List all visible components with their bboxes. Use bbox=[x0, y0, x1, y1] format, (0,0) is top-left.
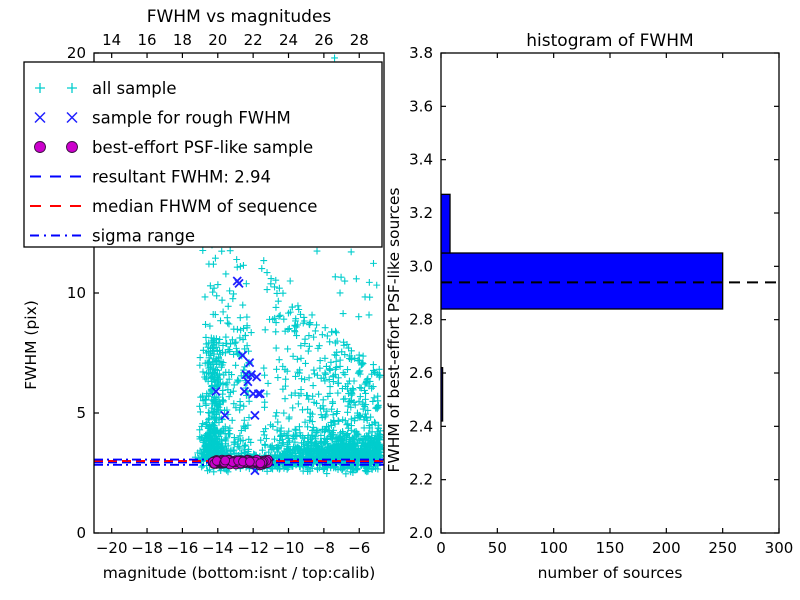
right-x-tick-label: 150 bbox=[596, 539, 625, 557]
left-x-tick-label: −18 bbox=[131, 539, 163, 557]
left-top-tick-label: 14 bbox=[102, 31, 121, 49]
right-x-tick-label: 0 bbox=[436, 539, 446, 557]
right-x-tick-label: 250 bbox=[708, 539, 737, 557]
legend-label: resultant FWHM: 2.94 bbox=[92, 168, 271, 187]
left-y-axis-label: FWHM (pix) bbox=[22, 300, 40, 390]
right-y-tick-label: 2.2 bbox=[409, 471, 433, 489]
right-y-tick-label: 3.4 bbox=[409, 151, 433, 169]
left-x-tick-label: −16 bbox=[167, 539, 199, 557]
right-y-tick-label: 3.2 bbox=[409, 204, 433, 222]
right-x-tick-label: 300 bbox=[765, 539, 794, 557]
matplotlib-figure: FWHM vs magnitudes 1416182022242628 −20−… bbox=[0, 0, 800, 600]
right-x-tick-label: 200 bbox=[652, 539, 681, 557]
left-panel-title: FWHM vs magnitudes bbox=[147, 7, 332, 27]
right-x-axis-label: number of sources bbox=[538, 564, 683, 582]
right-x-tick-label: 100 bbox=[539, 539, 568, 557]
right-y-tick-label: 2.8 bbox=[409, 311, 433, 329]
figure-canvas: FWHM vs magnitudes 1416182022242628 −20−… bbox=[0, 0, 800, 600]
right-y-tick-label: 2.4 bbox=[409, 417, 433, 435]
left-x-axis-label: magnitude (bottom:isnt / top:calib) bbox=[103, 564, 376, 582]
left-y-tick-label: 20 bbox=[67, 44, 86, 62]
left-top-tick-label: 16 bbox=[138, 31, 157, 49]
left-x-tick-label: −20 bbox=[96, 539, 128, 557]
psf-like-point bbox=[245, 457, 254, 466]
left-y-tick-label: 5 bbox=[76, 404, 86, 422]
left-top-tick-label: 28 bbox=[350, 31, 369, 49]
psf-like-point bbox=[221, 456, 230, 465]
left-y-tick-label: 10 bbox=[67, 284, 86, 302]
left-bottom-tick-labels: −20−18−16−14−12−10−8−6 bbox=[96, 539, 370, 557]
legend-label: median FHWM of sequence bbox=[92, 197, 317, 216]
left-x-tick-label: −12 bbox=[237, 539, 269, 557]
legend-label: sample for rough FWHM bbox=[92, 109, 291, 128]
right-y-tick-label: 3.8 bbox=[409, 44, 433, 62]
histogram-bar bbox=[441, 194, 450, 253]
left-top-tick-label: 22 bbox=[244, 31, 263, 49]
right-y-tick-label: 2.0 bbox=[409, 524, 433, 542]
left-x-tick-label: −10 bbox=[273, 539, 305, 557]
legend: all samplesample for rough FWHMbest-effo… bbox=[24, 62, 382, 247]
legend-label: sigma range bbox=[92, 227, 195, 246]
histogram-bar bbox=[441, 253, 723, 309]
psf-like-point bbox=[256, 459, 265, 468]
left-top-tick-label: 26 bbox=[314, 31, 333, 49]
legend-circle-marker bbox=[35, 142, 46, 153]
legend-circle-marker bbox=[67, 142, 78, 153]
right-y-tick-label: 3.0 bbox=[409, 257, 433, 275]
left-x-tick-label: −6 bbox=[348, 539, 370, 557]
right-panel-title: histogram of FWHM bbox=[526, 31, 693, 51]
left-top-tick-label: 18 bbox=[173, 31, 192, 49]
right-y-axis-label: FWHM of best-effort PSF-like sources bbox=[385, 187, 403, 472]
right-y-tick-label: 2.6 bbox=[409, 364, 433, 382]
scatter-psf-like-sample bbox=[208, 455, 272, 470]
right-y-tick-label: 3.6 bbox=[409, 97, 433, 115]
left-y-tick-label: 0 bbox=[76, 524, 86, 542]
left-top-tick-label: 24 bbox=[279, 31, 298, 49]
right-x-tick-label: 50 bbox=[488, 539, 507, 557]
left-top-tick-label: 20 bbox=[208, 31, 227, 49]
left-x-tick-label: −8 bbox=[313, 539, 335, 557]
legend-label: best-effort PSF-like sample bbox=[92, 138, 313, 157]
legend-label: all sample bbox=[92, 79, 177, 98]
left-x-tick-label: −14 bbox=[202, 539, 234, 557]
